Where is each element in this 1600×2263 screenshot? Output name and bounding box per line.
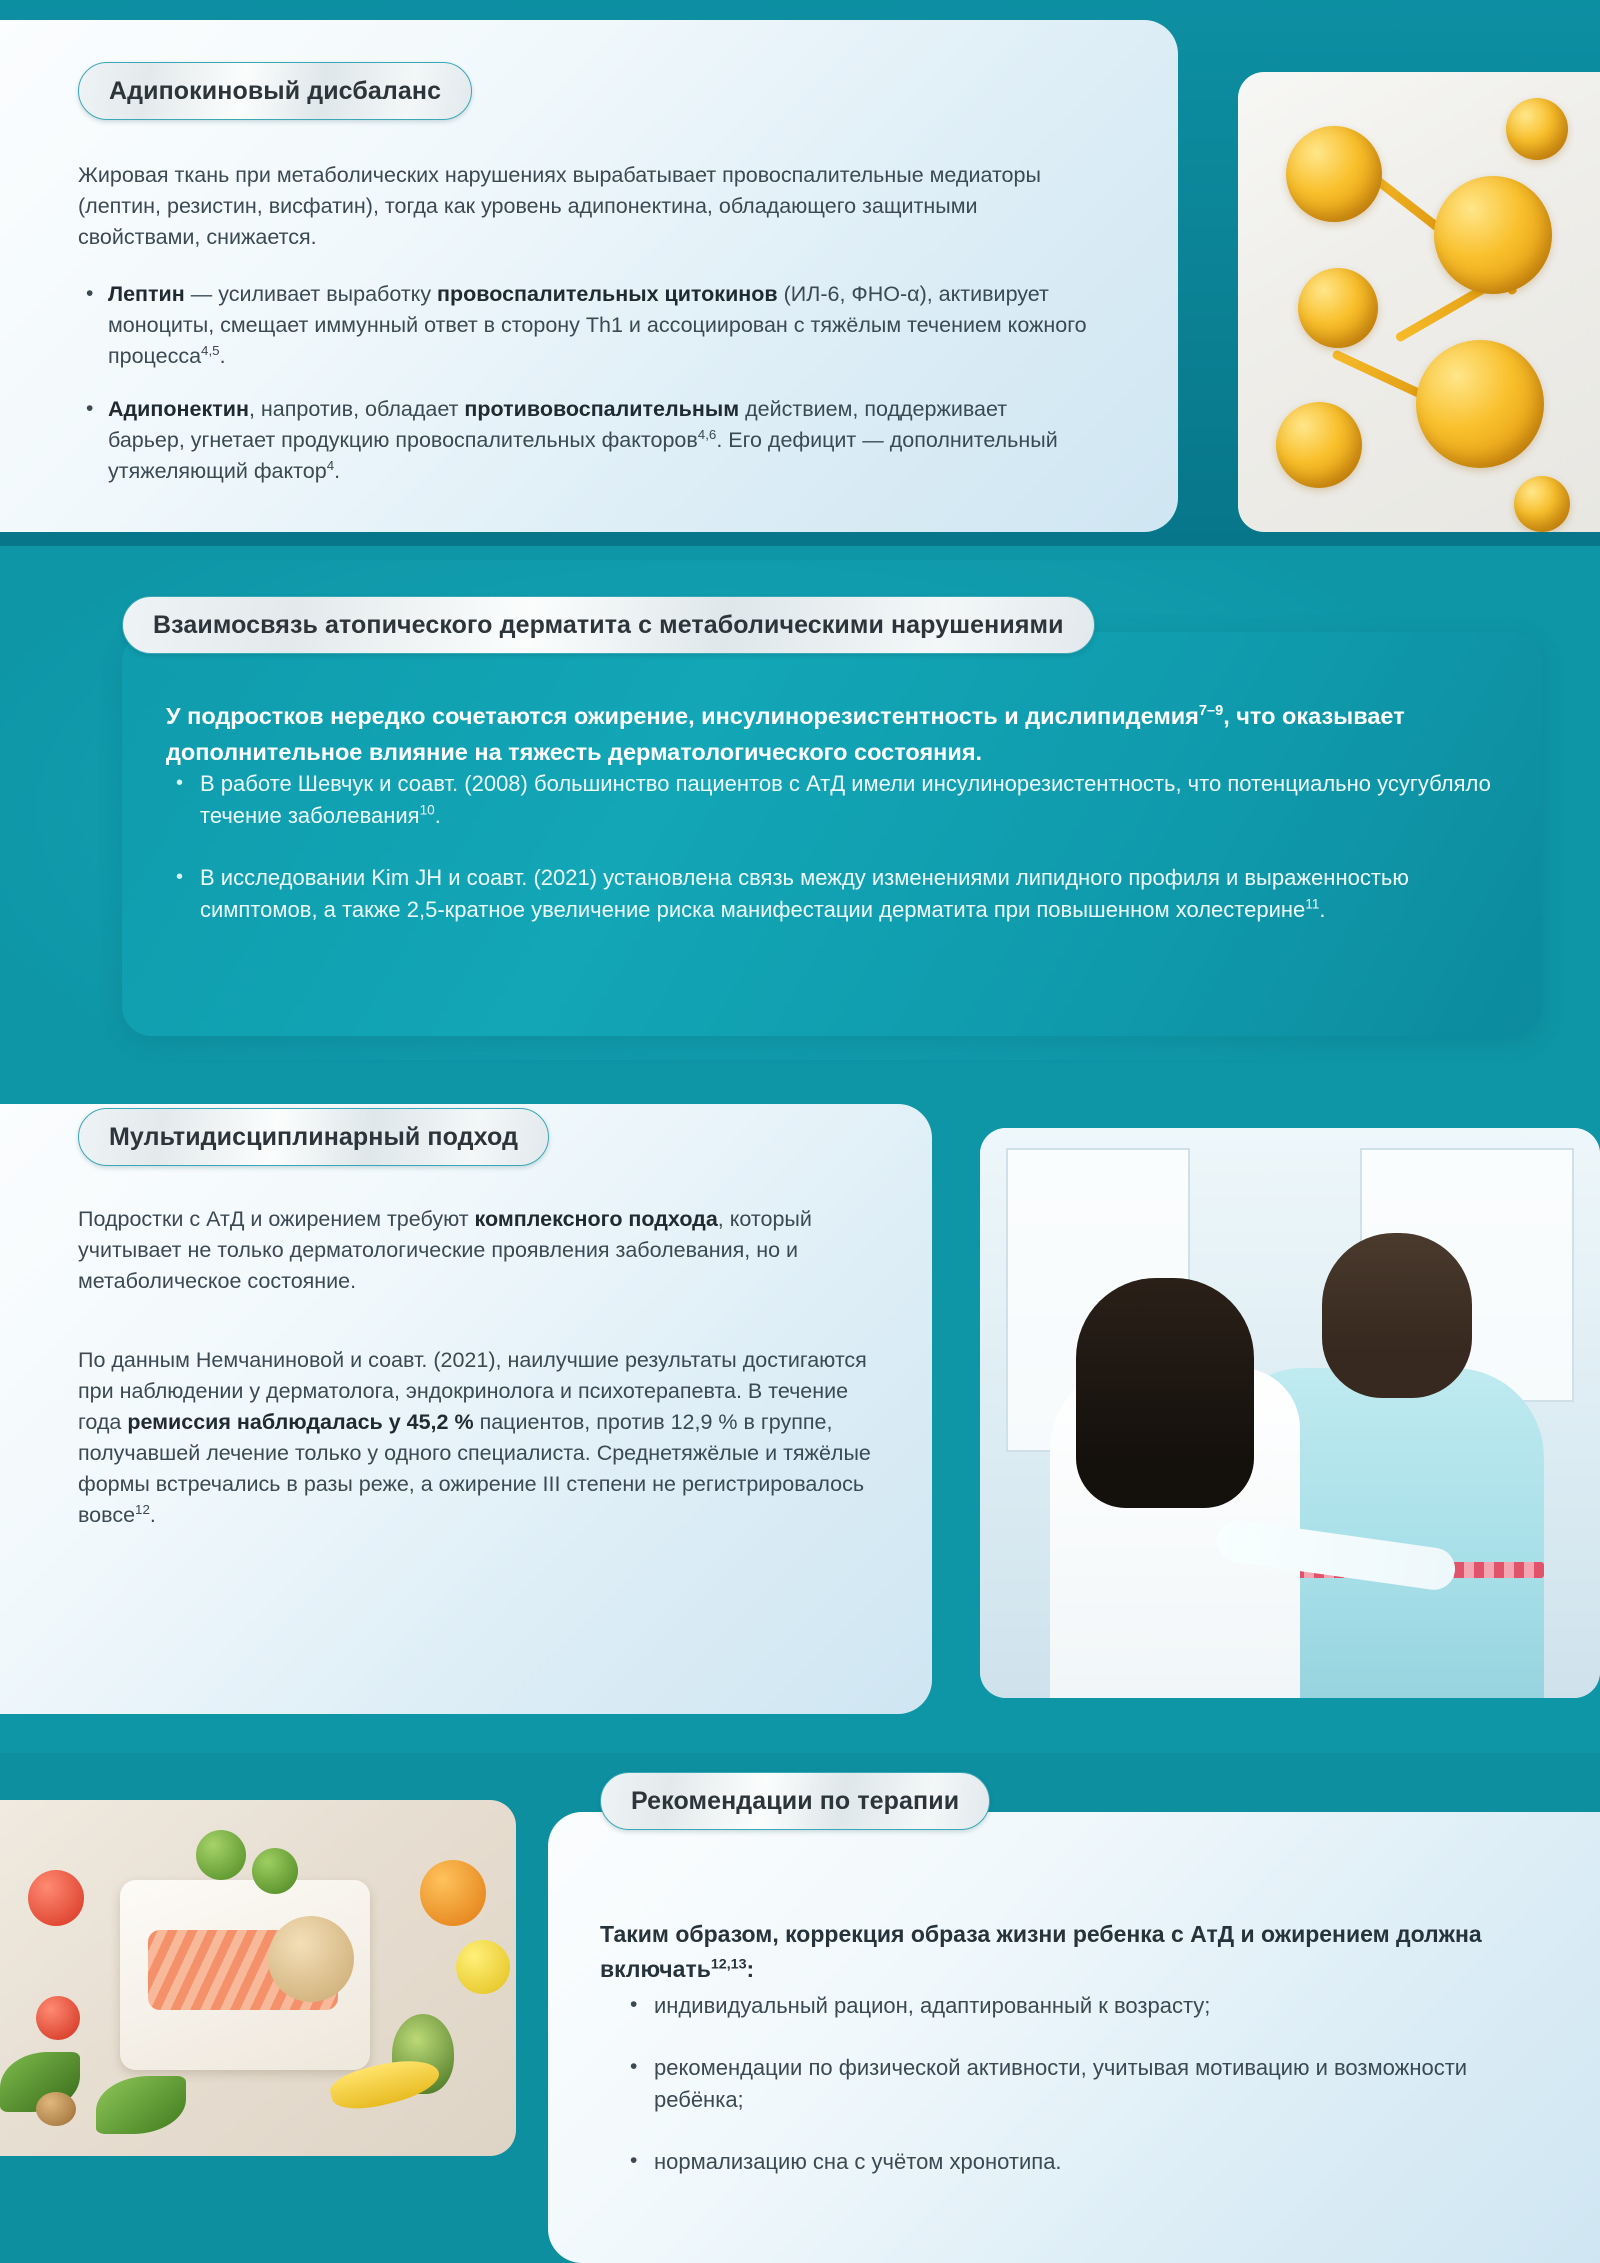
relation-bullet-list: В работе Шевчук и соавт. (2008) большинс… (166, 768, 1511, 956)
tomato (28, 1870, 84, 1926)
doctor-hair (1076, 1278, 1254, 1508)
relation-intro-text: У подростков нередко сочетаются ожирение… (166, 698, 1496, 770)
teenager-head (1322, 1233, 1472, 1398)
paragraph-strong: комплексного подхода (475, 1207, 718, 1231)
bullet-strong-text: противовоспалительным (464, 397, 739, 421)
list-item: В исследовании Kim JH и соавт. (2021) ус… (166, 862, 1511, 926)
list-item: Адипонектин, напротив, обладает противов… (78, 394, 1088, 487)
bullet-mid-text: , напротив, обладает (249, 397, 464, 421)
paragraph-part1: Подростки с АтД и ожирением требуют (78, 1207, 475, 1231)
grain-bowl (268, 1916, 354, 2002)
card-title-recommendations: Рекомендации по терапии (600, 1772, 990, 1830)
card-title-multidisciplinary: Мультидисциплинарный подход (78, 1108, 549, 1166)
oil-molecule-illustration (1238, 72, 1600, 532)
multidisciplinary-content: Подростки с АтД и ожирением требуют комп… (78, 1182, 878, 1552)
list-item: рекомендации по физической активности, у… (620, 2052, 1550, 2116)
recommendations-bullet-list: индивидуальный рацион, адаптированный к … (620, 1990, 1550, 2208)
adipokine-content: Жировая ткань при метаболических нарушен… (78, 138, 1088, 487)
bullet-text: В исследовании Kim JH и соавт. (2021) ус… (200, 865, 1409, 922)
bullet-end-text: . (1319, 897, 1325, 922)
reference-marker: 10 (420, 803, 435, 818)
adipokine-intro-text: Жировая ткань при метаболических нарушен… (78, 160, 1088, 253)
bullet-end-text-2: . (334, 459, 340, 483)
adipokine-bullet-list: Лептин — усиливает выработку провоспалит… (78, 279, 1088, 487)
intro-part2: : (747, 1956, 755, 1982)
reference-marker-2: 4 (327, 457, 334, 472)
list-item: Лептин — усиливает выработку провоспалит… (78, 279, 1088, 372)
card-recommendations: Таким образом, коррекция образа жизни ре… (548, 1812, 1600, 2263)
list-item: В работе Шевчук и соавт. (2008) большинс… (166, 768, 1511, 832)
brussels-sprout (252, 1848, 298, 1894)
bullet-end-text: . (220, 344, 226, 368)
healthy-food-image (0, 1800, 516, 2156)
bullet-end-text: . (435, 803, 441, 828)
lettuce-leaf (96, 2076, 186, 2134)
oil-molecule-image (1238, 72, 1600, 532)
lemon-half (456, 1940, 510, 1994)
card-title-adipokine: Адипокиновый дисбаланс (78, 62, 472, 120)
bullet-text: В работе Шевчук и соавт. (2008) большинс… (200, 771, 1491, 828)
tomato (36, 1996, 80, 2040)
list-item: индивидуальный рацион, адаптированный к … (620, 1990, 1550, 2022)
reference-marker: 11 (1305, 897, 1319, 912)
card-title-relation: Взаимосвязь атопического дерматита с мет… (122, 596, 1095, 654)
reference-marker: 4,5 (201, 342, 220, 357)
relation-intro-part1: У подростков нередко сочетаются ожирение… (166, 703, 1199, 729)
list-item: нормализацию сна с учётом хронотипа. (620, 2146, 1550, 2178)
reference-marker: 7–9 (1199, 703, 1223, 719)
doctor-measuring-teenager-image (980, 1128, 1600, 1698)
recommendations-intro-text: Таким образом, коррекция образа жизни ре… (600, 1917, 1500, 1987)
reference-marker: 12 (135, 1501, 150, 1516)
brussels-sprout (196, 1830, 246, 1880)
nuts (36, 2092, 76, 2126)
card-relation-metabolic: У подростков нередко сочетаются ожирение… (122, 632, 1542, 1036)
bullet-lead-term: Адипонектин (108, 397, 249, 421)
bullet-strong-text: провоспалительных цитокинов (437, 282, 778, 306)
paragraph-end: . (150, 1503, 156, 1527)
bullet-mid-text: — усиливает выработку (185, 282, 437, 306)
orange-fruit (420, 1860, 486, 1926)
intro-part1: Таким образом, коррекция образа жизни ре… (600, 1921, 1482, 1982)
reference-marker: 4,6 (698, 426, 717, 441)
multidisciplinary-paragraph-1: Подростки с АтД и ожирением требуют комп… (78, 1204, 878, 1297)
paragraph-strong: ремиссия наблюдалась у 45,2 % (127, 1410, 473, 1434)
multidisciplinary-paragraph-2: По данным Немчаниновой и соавт. (2021), … (78, 1345, 878, 1531)
bullet-lead-term: Лептин (108, 282, 185, 306)
reference-marker: 12,13 (711, 1956, 747, 1972)
